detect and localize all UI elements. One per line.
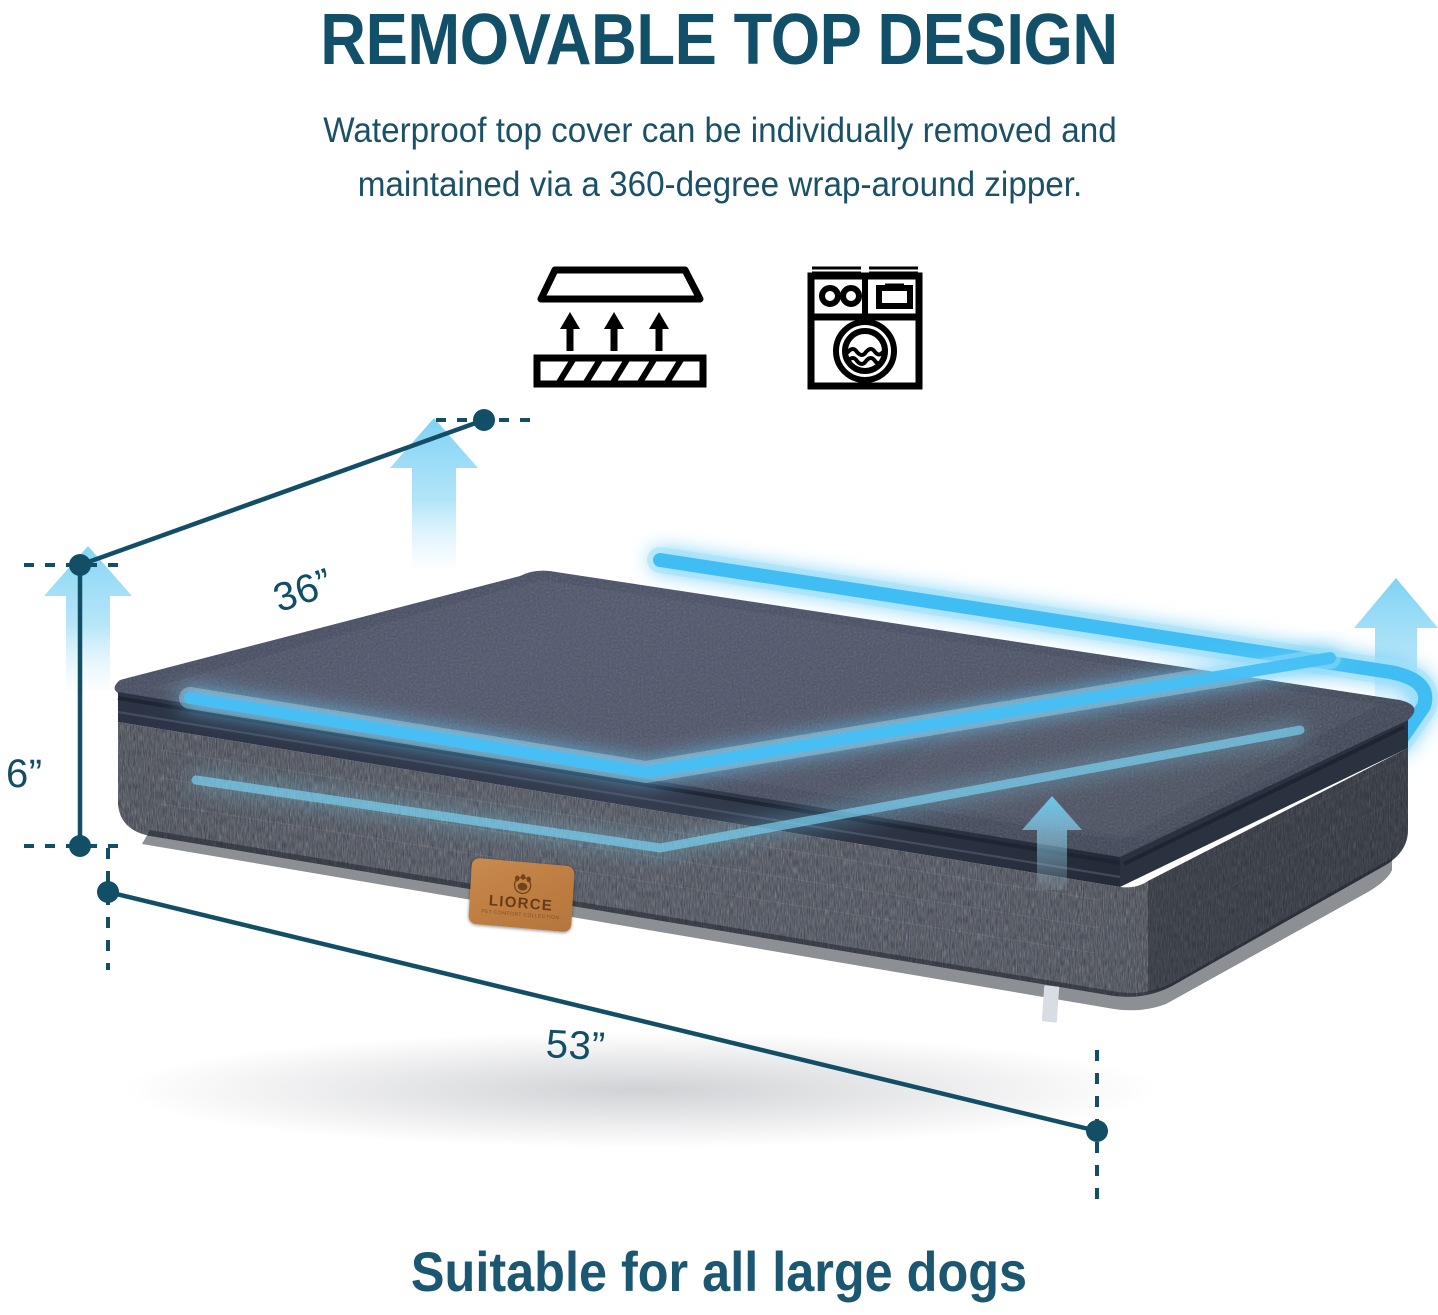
dimension-label-height: 6”	[6, 752, 43, 797]
lift-arrow-top-left	[390, 418, 478, 568]
feature-icon-row	[0, 258, 1438, 398]
product-illustration	[0, 400, 1438, 1230]
brand-patch: LIORCE PET COMFORT COLLECTION	[468, 858, 575, 933]
subtitle-line-2: maintained via a 360-degree wrap-around …	[141, 158, 1300, 212]
dimension-label-length: 53”	[545, 1022, 607, 1070]
removable-cover-icon	[514, 263, 710, 394]
product-infographic: REMOVABLE TOP DESIGN Waterproof top cove…	[0, 0, 1438, 1315]
washing-machine-icon	[805, 262, 925, 395]
care-label-tag	[1042, 985, 1059, 1022]
page-subtitle: Waterproof top cover can be individually…	[141, 104, 1300, 212]
subtitle-line-1: Waterproof top cover can be individually…	[141, 104, 1300, 158]
page-title: REMOVABLE TOP DESIGN	[86, 2, 1351, 78]
footer-tagline: Suitable for all large dogs	[72, 1241, 1366, 1303]
brand-logo-icon	[509, 871, 536, 895]
